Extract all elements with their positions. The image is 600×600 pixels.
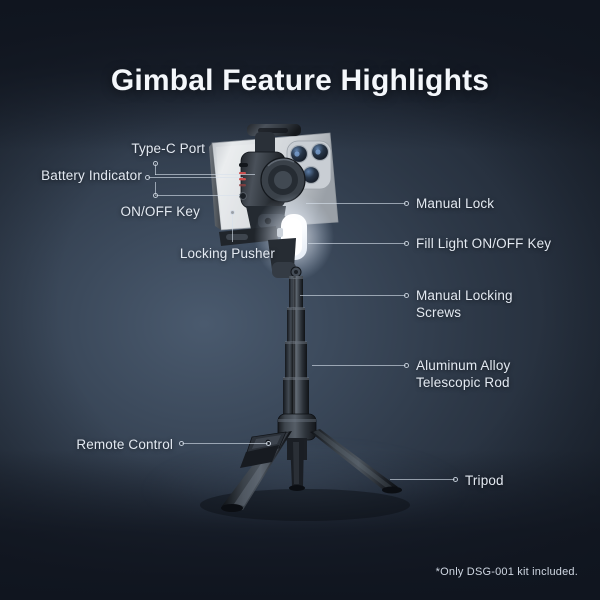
leader-dot-battery-indicator <box>145 175 150 180</box>
leader-line-manual-locking-screws <box>300 295 406 296</box>
leader-line-on-off-key <box>155 195 240 196</box>
leader-dot-type-c-port <box>153 161 158 166</box>
leader-dot-locking-pusher <box>230 210 235 215</box>
annotation-label-manual-lock: Manual Lock <box>416 195 596 212</box>
leader-dot-tripod <box>453 477 458 482</box>
annotation-label-remote-control: Remote Control <box>10 436 173 453</box>
leader-line-type-c-port <box>155 174 255 175</box>
annotation-label-tripod: Tripod <box>465 472 575 489</box>
leader-dot-remote-control-right <box>266 441 271 446</box>
leader-line-tripod <box>390 479 455 480</box>
leader-line-remote-control <box>182 443 268 444</box>
annotation-label-aluminum-alloy-rod: Aluminum Alloy Telescopic Rod <box>416 357 586 391</box>
footnote-text: *Only DSG-001 kit included. <box>436 566 578 578</box>
telescopic-rod <box>283 276 309 418</box>
annotation-label-battery-indicator: Battery Indicator <box>10 167 142 184</box>
annotation-label-locking-pusher: Locking Pusher <box>90 245 275 262</box>
leader-line-fill-light <box>308 243 406 244</box>
annotation-label-type-c-port: Type-C Port <box>30 140 205 157</box>
leader-dot-on-off-key <box>153 193 158 198</box>
infographic-canvas: Gimbal Feature Highlights Type-C Port Ba… <box>0 0 600 600</box>
leader-dot-manual-lock <box>404 201 409 206</box>
leader-line-battery-indicator <box>148 177 243 178</box>
annotation-label-on-off-key: ON/OFF Key <box>30 203 200 220</box>
leader-dot-manual-locking-screws <box>404 293 409 298</box>
leader-line-locking-pusher <box>232 212 233 242</box>
leader-dot-remote-control-left <box>179 441 184 446</box>
leader-dot-fill-light <box>404 241 409 246</box>
annotation-label-manual-locking-screws: Manual Locking Screws <box>416 287 586 321</box>
annotation-label-fill-light-key: Fill Light ON/OFF Key <box>416 235 598 252</box>
page-title: Gimbal Feature Highlights <box>0 64 600 98</box>
leader-line-manual-lock <box>306 203 406 204</box>
leader-line-aluminum-alloy-rod <box>312 365 406 366</box>
leader-dot-aluminum-alloy-rod <box>404 363 409 368</box>
